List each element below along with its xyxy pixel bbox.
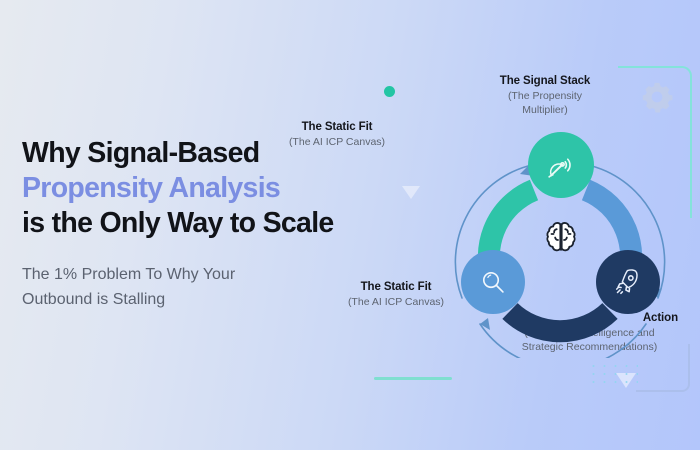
triangle-outline-icon	[402, 186, 420, 199]
green-dot-decoration	[384, 86, 395, 97]
rocket-icon	[614, 268, 642, 296]
label-static-fit-top-title: The Static Fit	[262, 120, 412, 135]
propensity-cycle-diagram	[436, 60, 684, 380]
node-action[interactable]	[596, 250, 660, 314]
node-signal-stack[interactable]	[528, 132, 594, 198]
node-brain-center	[538, 214, 584, 260]
headline-line-2: Propensity Analysis	[22, 171, 382, 206]
headline-line-3: is the Only Way to Scale	[22, 206, 382, 241]
brain-icon	[541, 217, 581, 257]
subtitle-line-1: The 1% Problem To Why Your	[22, 262, 322, 287]
diagram-ring	[450, 138, 670, 358]
slide-canvas: Why Signal-Based Propensity Analysis is …	[0, 0, 700, 450]
label-static-fit-top: The Static Fit (The AI ICP Canvas)	[262, 120, 412, 149]
page-subtitle: The 1% Problem To Why Your Outbound is S…	[22, 262, 322, 312]
page-title: Why Signal-Based Propensity Analysis is …	[22, 136, 382, 241]
node-static-fit[interactable]	[461, 250, 525, 314]
magnifier-icon	[479, 268, 507, 296]
subtitle-line-2: Outbound is Stalling	[22, 287, 322, 312]
ring-segment-action	[510, 311, 610, 331]
arrowhead-left	[480, 318, 490, 330]
label-static-fit-top-sub-1: (The AI ICP Canvas)	[262, 135, 412, 149]
satellite-dish-icon	[546, 150, 576, 180]
